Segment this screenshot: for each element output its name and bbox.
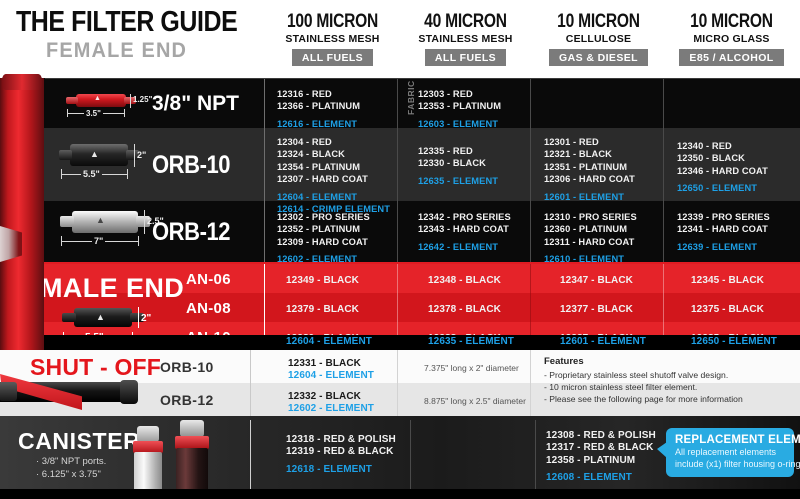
column-micron-label: 10 MICRON bbox=[676, 12, 787, 31]
filter-image-orb10: ▲ 2" 5.5" bbox=[58, 136, 158, 188]
part-number: 12377 - BLACK bbox=[560, 304, 633, 316]
filter-end-left bbox=[62, 313, 76, 322]
dimension-length: 5.5" bbox=[81, 169, 102, 179]
valve-end-cap bbox=[120, 380, 138, 404]
part-number: 12341 - HARD COAT bbox=[677, 223, 770, 235]
cell-orb10-40micron: 12335 - RED 12330 - BLACK 12635 - ELEMEN… bbox=[418, 145, 498, 187]
column-divider bbox=[535, 420, 536, 490]
row-label-shutoff-orb12: ORB-12 bbox=[160, 392, 214, 408]
footer-strip bbox=[0, 489, 800, 499]
element-number: 12650 - ELEMENT bbox=[677, 182, 768, 194]
part-number: 12349 - BLACK bbox=[286, 275, 359, 287]
part-number: 12348 - BLACK bbox=[428, 275, 501, 287]
dimension-tick-left bbox=[67, 109, 68, 117]
canister-bracket bbox=[137, 426, 159, 442]
dimension-line-vertical bbox=[144, 210, 145, 234]
element-number: 12604 - ELEMENT bbox=[288, 370, 374, 382]
row-label-an08: AN-08 bbox=[186, 300, 231, 317]
replacement-elements-callout: REPLACEMENT ELEMENTS All replacement ele… bbox=[666, 428, 794, 477]
header: THE FILTER GUIDE FEMALE END 100 MICRON S… bbox=[0, 0, 800, 78]
dimension-tick-left bbox=[61, 236, 62, 246]
cell-npt-100micron: 12316 - RED 12366 - PLATINUM 12616 - ELE… bbox=[277, 88, 360, 130]
aeromotive-logo-icon: ▲ bbox=[90, 149, 99, 159]
column-material-label: STAINLESS MESH bbox=[265, 33, 400, 45]
column-divider bbox=[250, 350, 251, 416]
part-number: 12352 - PLATINUM bbox=[277, 223, 370, 235]
part-number: 12321 - BLACK bbox=[544, 148, 635, 160]
part-number: 12309 - HARD COAT bbox=[277, 236, 370, 248]
column-micron-label: 40 MICRON bbox=[410, 12, 521, 31]
part-number: 12342 - PRO SERIES bbox=[418, 211, 511, 223]
filter-end-left bbox=[60, 216, 74, 227]
features-item: - Please see the following page for more… bbox=[544, 394, 743, 404]
cell-orb12-10micron-microglass: 12339 - PRO SERIES 12341 - HARD COAT 126… bbox=[677, 211, 770, 253]
element-number: 12603 - ELEMENT bbox=[418, 118, 501, 130]
filter-guide-page: THE FILTER GUIDE FEMALE END 100 MICRON S… bbox=[0, 0, 800, 499]
part-number: 12306 - HARD COAT bbox=[544, 173, 635, 185]
dimension-line-vertical bbox=[138, 307, 139, 328]
part-number: 12366 - PLATINUM bbox=[277, 100, 360, 112]
female-end-section: ▲ 1.25" 3.5" 3/8" NPT FABRIC 12316 - RED… bbox=[0, 78, 800, 262]
canister-spec: · 3/8" NPT ports. bbox=[36, 456, 106, 467]
features-item: - Proprietary stainless steel shutoff va… bbox=[544, 370, 728, 380]
dimension-note-orb12: 8.875" long x 2.5" diameter bbox=[424, 396, 526, 406]
filter-end-left bbox=[59, 150, 72, 160]
part-number: 12304 - RED bbox=[277, 136, 390, 148]
filter-body bbox=[76, 94, 126, 107]
cell-canister-10micron-cellulose: 12308 - RED & POLISH 12317 - RED & BLACK… bbox=[546, 430, 656, 485]
dimension-diameter: 1.25" bbox=[133, 95, 152, 104]
part-number: 12343 - HARD COAT bbox=[418, 223, 511, 235]
dimension-diameter: 2" bbox=[141, 313, 151, 324]
callout-line-1: All replacement elements bbox=[675, 447, 786, 459]
element-number: 12601 - ELEMENT bbox=[544, 191, 635, 203]
section-subtitle: FEMALE END bbox=[46, 39, 187, 63]
column-micron-label: 100 MICRON bbox=[277, 12, 388, 31]
column-divider bbox=[530, 78, 531, 262]
canister-bracket bbox=[180, 420, 204, 437]
dimension-line-vertical bbox=[134, 144, 135, 167]
element-number: 12642 - ELEMENT bbox=[418, 241, 511, 253]
part-number: 12350 - BLACK bbox=[677, 152, 768, 164]
row-label-orb10: ORB-10 bbox=[152, 151, 230, 180]
column-fuel-badge: ALL FUELS bbox=[292, 49, 373, 66]
cell-canister-100micron: 12318 - RED & POLISH 12319 - RED & BLACK… bbox=[286, 434, 396, 476]
cell-orb10-10micron-microglass: 12340 - RED 12350 - BLACK 12346 - HARD C… bbox=[677, 140, 768, 195]
part-number: 12332 - BLACK bbox=[288, 391, 361, 403]
part-number: 12317 - RED & BLACK bbox=[546, 442, 656, 454]
canister-image-polish bbox=[127, 426, 172, 492]
row-label-shutoff-orb10: ORB-10 bbox=[160, 359, 214, 375]
column-micron-label: 10 MICRON bbox=[543, 12, 654, 31]
column-material-label: CELLULOSE bbox=[531, 33, 666, 45]
canister-section: CANISTER · 3/8" NPT ports. · 6.125" x 3.… bbox=[0, 416, 800, 499]
element-number: 12601 - ELEMENT bbox=[560, 336, 646, 348]
valve-pivot bbox=[0, 382, 17, 401]
part-number: 12301 - RED bbox=[544, 136, 635, 148]
column-divider bbox=[397, 78, 398, 262]
shutoff-valve-image bbox=[0, 372, 146, 414]
decorative-red-filter-body bbox=[0, 78, 44, 350]
part-number: 12340 - RED bbox=[677, 140, 768, 152]
cell-orb10-10micron-cellulose: 12301 - RED 12321 - BLACK 12351 - PLATIN… bbox=[544, 136, 635, 203]
filter-end-left bbox=[66, 97, 78, 104]
dimension-tick-right bbox=[138, 236, 139, 246]
part-number: 12319 - RED & BLACK bbox=[286, 446, 396, 458]
element-number: 12608 - ELEMENT bbox=[546, 472, 656, 484]
part-number: 12347 - BLACK bbox=[560, 275, 633, 287]
column-divider bbox=[264, 78, 265, 262]
features-title: Features bbox=[544, 356, 584, 367]
cell-orb12-40micron: 12342 - PRO SERIES 12343 - HARD COAT 126… bbox=[418, 211, 511, 253]
element-number: 12604 - ELEMENT bbox=[277, 191, 390, 203]
part-number: 12353 - PLATINUM bbox=[418, 100, 501, 112]
dimension-note-orb10: 7.375" long x 2" diameter bbox=[424, 363, 519, 373]
male-end-title: MALE END bbox=[40, 273, 184, 304]
element-number: 12650 - ELEMENT bbox=[691, 336, 777, 348]
part-number: 12308 - RED & POLISH bbox=[546, 430, 656, 442]
part-number: 12316 - RED bbox=[277, 88, 360, 100]
part-number: 12330 - BLACK bbox=[418, 157, 498, 169]
element-number: 12602 - ELEMENT bbox=[288, 403, 374, 415]
cell-orb10-100micron: 12304 - RED 12324 - BLACK 12354 - PLATIN… bbox=[277, 136, 390, 215]
part-number: 12324 - BLACK bbox=[277, 148, 390, 160]
row-label-orb12: ORB-12 bbox=[152, 218, 230, 247]
dimension-tick-right bbox=[124, 109, 125, 117]
element-number: 12635 - ELEMENT bbox=[428, 336, 514, 348]
canister-image-black bbox=[170, 420, 218, 492]
canister-title: CANISTER bbox=[18, 428, 140, 455]
filter-body bbox=[70, 144, 128, 166]
part-number: 12354 - PLATINUM bbox=[277, 161, 390, 173]
element-number: 12618 - ELEMENT bbox=[286, 464, 396, 476]
part-number: 12311 - HARD COAT bbox=[544, 236, 637, 248]
element-number: 12639 - ELEMENT bbox=[677, 241, 770, 253]
aeromotive-logo-icon: ▲ bbox=[96, 312, 105, 322]
part-number: 12378 - BLACK bbox=[428, 304, 501, 316]
column-fuel-badge: ALL FUELS bbox=[425, 49, 506, 66]
callout-line-2: include (x1) filter housing o-ring bbox=[675, 459, 786, 471]
part-number: 12339 - PRO SERIES bbox=[677, 211, 770, 223]
shut-off-section: SHUT - OFF ORB-10 ORB-12 12331 - BLACK 1… bbox=[0, 350, 800, 416]
part-number: 12379 - BLACK bbox=[286, 304, 359, 316]
column-header-10-micron-micro-glass: 10 MICRON MICRO GLASS E85 / ALCOHOL bbox=[664, 12, 799, 66]
row-label-npt: 3/8" NPT bbox=[152, 92, 239, 116]
column-fuel-badge: GAS & DIESEL bbox=[549, 49, 648, 66]
part-number: 12307 - HARD COAT bbox=[277, 173, 390, 185]
column-material-label: MICRO GLASS bbox=[664, 33, 799, 45]
column-divider bbox=[250, 420, 251, 490]
dimension-tick-left bbox=[61, 169, 62, 179]
dimension-line-vertical bbox=[130, 94, 131, 108]
element-number: 12616 - ELEMENT bbox=[277, 118, 360, 130]
column-divider bbox=[397, 350, 398, 416]
dimension-tick-right bbox=[127, 169, 128, 179]
part-number: 12331 - BLACK bbox=[288, 358, 361, 370]
aeromotive-logo-icon: ▲ bbox=[96, 215, 105, 225]
column-header-10-micron-cellulose: 10 MICRON CELLULOSE GAS & DIESEL bbox=[531, 12, 666, 66]
row-divider bbox=[45, 78, 800, 79]
column-fuel-badge: E85 / ALCOHOL bbox=[679, 49, 783, 66]
column-divider bbox=[663, 78, 664, 262]
dimension-length: 3.5" bbox=[84, 109, 103, 118]
aeromotive-logo-icon: ▲ bbox=[94, 95, 101, 102]
cell-npt-40micron: 12303 - RED 12353 - PLATINUM 12603 - ELE… bbox=[418, 88, 501, 130]
part-number: 12335 - RED bbox=[418, 145, 498, 157]
dimension-length: 7" bbox=[92, 236, 105, 246]
part-number: 12351 - PLATINUM bbox=[544, 161, 635, 173]
part-number: 12345 - BLACK bbox=[691, 275, 764, 287]
column-divider bbox=[530, 350, 531, 416]
row-label-an06: AN-06 bbox=[186, 271, 231, 288]
filter-image-npt: ▲ 1.25" 3.5" bbox=[62, 89, 147, 119]
column-header-100-micron: 100 MICRON STAINLESS MESH ALL FUELS bbox=[265, 12, 400, 66]
column-divider bbox=[410, 420, 411, 490]
callout-title: REPLACEMENT ELEMENTS bbox=[675, 434, 786, 446]
part-number: 12318 - RED & POLISH bbox=[286, 434, 396, 446]
male-end-elements-row: 12604 - ELEMENT 12635 - ELEMENT 12601 - … bbox=[0, 335, 800, 350]
filter-logo-mark bbox=[0, 226, 22, 262]
features-item: - 10 micron stainless steel filter eleme… bbox=[544, 382, 697, 392]
filter-cap bbox=[2, 74, 42, 90]
part-number: 12360 - PLATINUM bbox=[544, 223, 637, 235]
element-number: 12604 - ELEMENT bbox=[286, 336, 372, 348]
part-number: 12346 - HARD COAT bbox=[677, 165, 768, 177]
part-number: 12310 - PRO SERIES bbox=[544, 211, 637, 223]
part-number: 12375 - BLACK bbox=[691, 304, 764, 316]
cell-orb12-10micron-cellulose: 12310 - PRO SERIES 12360 - PLATINUM 1231… bbox=[544, 211, 637, 266]
part-number: 12302 - PRO SERIES bbox=[277, 211, 370, 223]
column-header-40-micron: 40 MICRON STAINLESS MESH ALL FUELS bbox=[398, 12, 533, 66]
part-number: 12303 - RED bbox=[418, 88, 501, 100]
dimension-diameter: 2" bbox=[137, 150, 146, 160]
part-number: 12358 - PLATINUM bbox=[546, 455, 656, 467]
page-title: THE FILTER GUIDE bbox=[16, 6, 237, 39]
cell-orb12-100micron: 12302 - PRO SERIES 12352 - PLATINUM 1230… bbox=[277, 211, 370, 266]
column-material-label: STAINLESS MESH bbox=[398, 33, 533, 45]
element-number: 12635 - ELEMENT bbox=[418, 175, 498, 187]
canister-spec: · 6.125" x 3.75" bbox=[36, 469, 101, 480]
filter-body bbox=[72, 211, 138, 233]
fabric-side-note: FABRIC bbox=[406, 80, 416, 115]
